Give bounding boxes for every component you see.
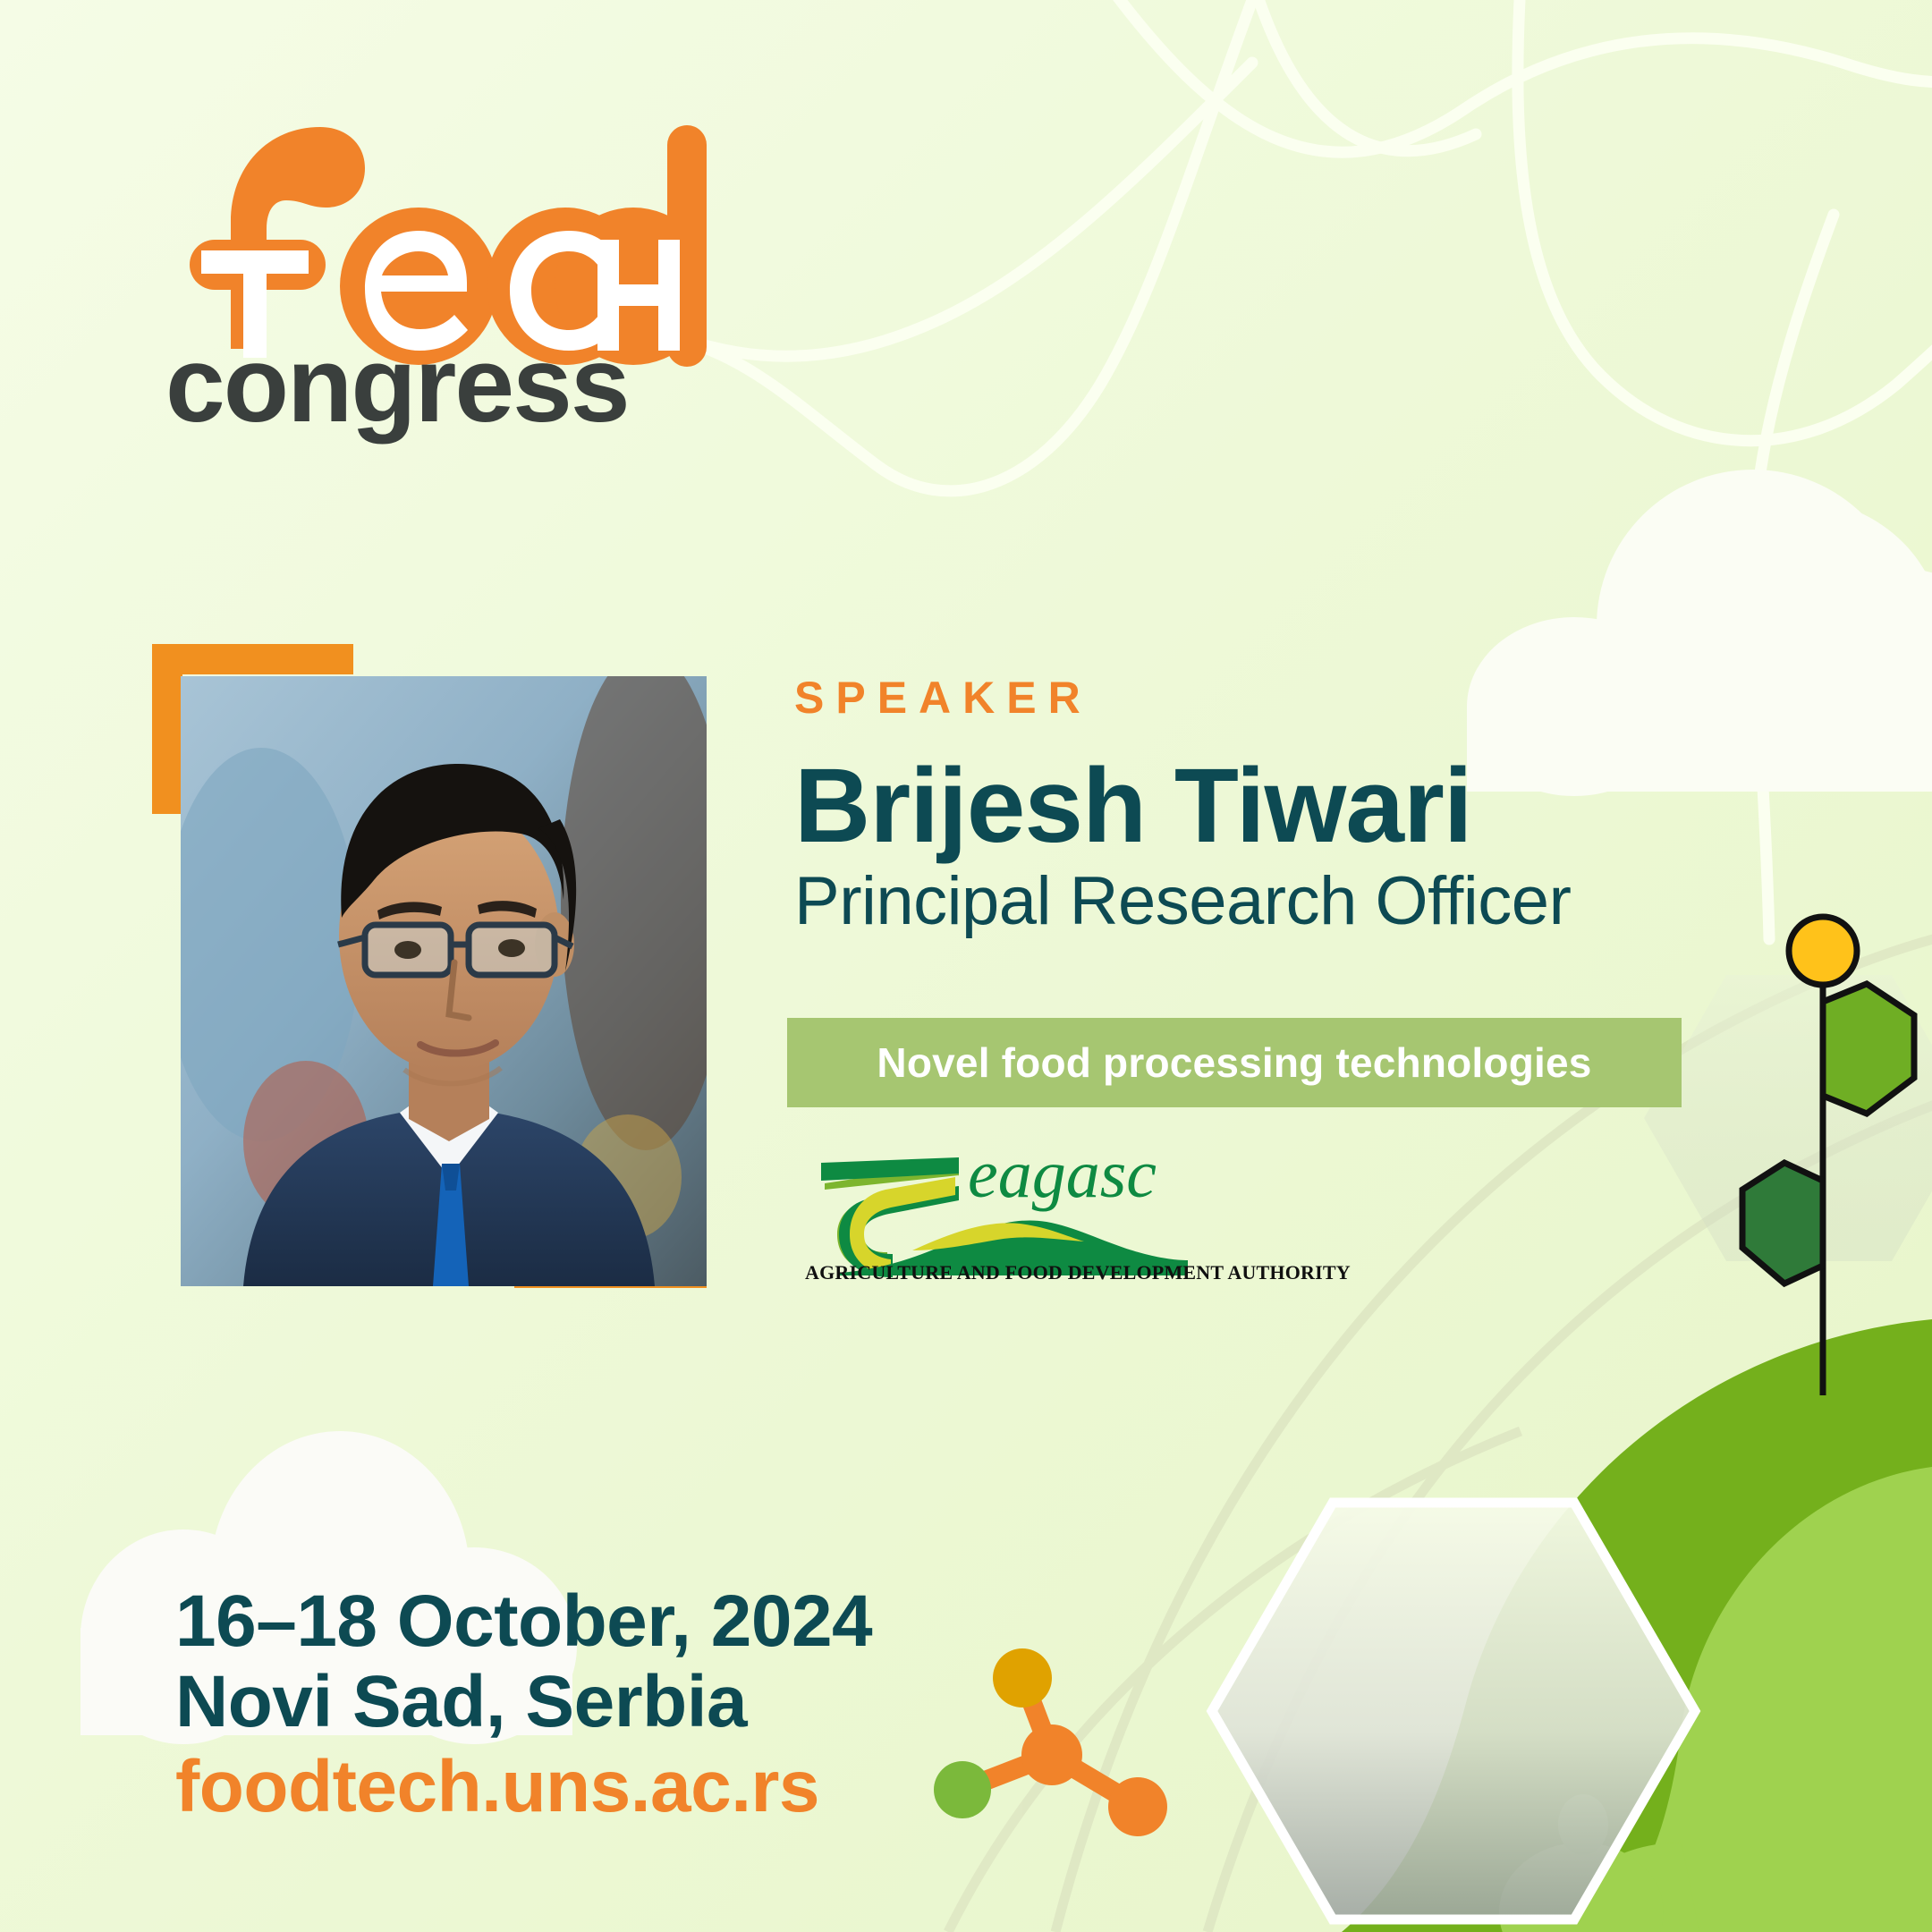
talk-topic-label: Novel food processing technologies [877, 1038, 1591, 1087]
event-website[interactable]: foodtech.uns.ac.rs [175, 1746, 872, 1828]
speaker-kicker: SPEAKER [794, 675, 1742, 720]
corner-bracket-top-left-vertical [152, 644, 182, 814]
teagasc-tagline: AGRICULTURE AND FOOD DEVELOPMENT AUTHORI… [805, 1261, 1190, 1284]
event-details-block: 16–18 October, 2024 Novi Sad, Serbia foo… [175, 1581, 872, 1828]
speaker-info-block: SPEAKER Brijesh Tiwari Principal Researc… [794, 675, 1742, 939]
speaker-portrait [181, 676, 707, 1286]
teagasc-wordmark: eagasc [968, 1137, 1157, 1212]
speaker-name: Brijesh Tiwari [794, 752, 1742, 860]
talk-topic-banner: Novel food processing technologies [787, 1018, 1682, 1107]
event-dates: 16–18 October, 2024 [175, 1581, 872, 1662]
speaker-photo-frame [152, 644, 707, 1288]
logo-subtitle: congress [165, 331, 629, 438]
event-location: Novi Sad, Serbia [175, 1662, 872, 1742]
speaker-role: Principal Research Officer [794, 863, 1742, 939]
speaker-announcement-poster: congress [0, 0, 1932, 1932]
